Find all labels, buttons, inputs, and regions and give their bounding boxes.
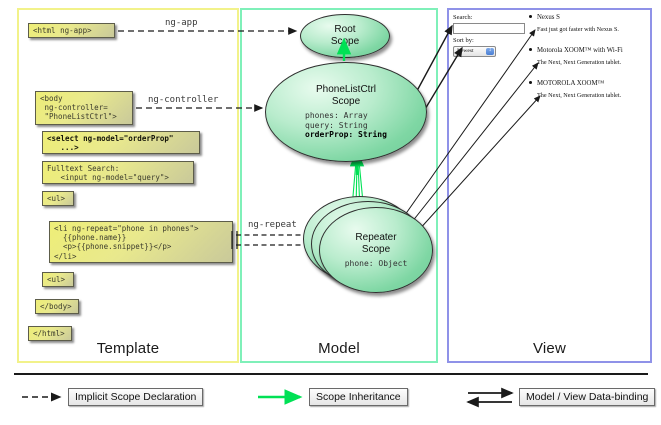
search-input[interactable] — [453, 23, 525, 34]
column-label-template: Template — [19, 340, 237, 357]
phone-list-item[interactable]: MOTOROLA XOOM™ The Next, Next Generation… — [537, 80, 621, 99]
code-box-body-controller: <body ng-controller= "PhoneListCtrl"> — [35, 91, 133, 125]
column-label-view: View — [449, 340, 650, 357]
code-box-ul-open-tag: <ul> — [42, 191, 74, 206]
code-box-li-ng-repeat: <li ng-repeat="phone in phones"> {{phone… — [49, 221, 233, 263]
code-box-body-close-tag: </body> — [35, 299, 79, 314]
code-box-select-orderprop: <select ng-model="orderProp" ...> — [42, 131, 200, 154]
column-label-model: Model — [242, 340, 436, 357]
scope-phone-list-ctrl: PhoneListCtrl Scope phones: Array query:… — [265, 62, 427, 162]
scope-prop-orderprop: orderProp: String — [305, 130, 387, 140]
phone-name: Nexus S — [537, 14, 619, 21]
bullet-icon — [529, 48, 532, 51]
connector-label-ng-repeat: ng-repeat — [248, 220, 297, 230]
search-label: Search: — [453, 14, 473, 21]
scope-phone-list-ctrl-title: PhoneListCtrl Scope — [316, 84, 376, 108]
bullet-icon — [529, 81, 532, 84]
view-app-mock: Search: Sort by: Newest Nexus S Fast jus… — [453, 14, 647, 124]
scope-prop-phone: phone: Object — [345, 259, 408, 269]
scope-prop-query: query: String — [305, 121, 387, 131]
phone-snippet: The Next, Next Generation tablet. — [537, 59, 623, 66]
bullet-icon — [529, 15, 532, 18]
legend-item-implicit-scope-declaration: Implicit Scope Declaration — [68, 388, 203, 406]
scope-repeater-props: phone: Object — [345, 259, 408, 269]
scope-prop-phones: phones: Array — [305, 111, 387, 121]
scope-phone-list-ctrl-props: phones: Array query: String orderProp: S… — [305, 111, 387, 140]
code-box-html-open-tag: <html ng-app> — [28, 23, 115, 38]
connector-label-ng-app: ng-app — [165, 18, 198, 28]
phone-snippet: Fast just got faster with Nexus S. — [537, 26, 619, 33]
phone-name: MOTOROLA XOOM™ — [537, 80, 621, 87]
code-box-html-close-tag: </html> — [28, 326, 72, 341]
sort-select[interactable]: Newest — [453, 46, 496, 57]
scope-repeater: Repeater Scope phone: Object — [319, 207, 433, 293]
legend: Implicit Scope Declaration Scope Inherit… — [0, 383, 661, 417]
legend-item-model-view-data-binding: Model / View Data-binding — [519, 388, 655, 406]
phone-list-item[interactable]: Nexus S Fast just got faster with Nexus … — [537, 14, 619, 33]
scope-root: Root Scope — [300, 14, 390, 58]
phone-list-item[interactable]: Motorola XOOM™ with Wi-Fi The Next, Next… — [537, 47, 623, 66]
legend-divider — [14, 373, 648, 375]
scope-repeater-title: Repeater Scope — [355, 232, 396, 256]
connector-label-ng-controller: ng-controller — [148, 95, 218, 105]
legend-item-scope-inheritance: Scope Inheritance — [309, 388, 408, 406]
phone-snippet: The Next, Next Generation tablet. — [537, 92, 621, 99]
code-box-fulltext-search: Fulltext Search: <input ng-model="query"… — [42, 161, 194, 184]
diagram-root: Template Model View <html ng-app> <body … — [0, 0, 661, 425]
sort-select-value: Newest — [457, 48, 474, 54]
phone-name: Motorola XOOM™ with Wi-Fi — [537, 47, 623, 54]
code-box-ul-close-tag: <ul> — [42, 272, 74, 287]
scope-root-title: Root Scope — [331, 24, 359, 48]
chevron-updown-icon — [486, 48, 494, 55]
sort-label: Sort by: — [453, 37, 474, 44]
